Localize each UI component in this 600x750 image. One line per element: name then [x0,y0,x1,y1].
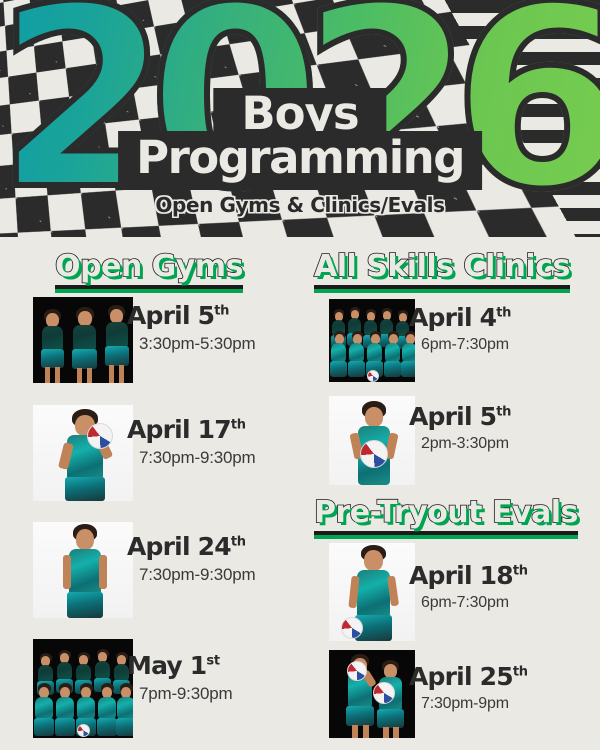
entry-text: April 5th 3:30pm-5:30pm [127,303,255,354]
entry-text: April 17th 7:30pm-9:30pm [127,417,255,468]
list-item: April 18th 6pm-7:30pm [327,541,597,643]
entry-time: 2pm-3:30pm [409,435,509,453]
entry-photo-full-team-two-rows [327,297,417,384]
list-item: April 24th 7:30pm-9:30pm [31,520,296,620]
entry-date: April 18th [409,563,528,589]
section-heading-all-skills-clinics: All Skills Clinics [314,249,570,289]
entry-time: 7:30pm-9:30pm [127,448,255,468]
entry-text: April 5th 2pm-3:30pm [409,404,511,453]
section-heading-open-gyms: Open Gyms [55,249,243,289]
list-item: April 25th 7:30pm-9pm [327,648,597,740]
entry-date: April 5th [127,303,229,329]
entry-photo-player-7-standing [31,520,135,620]
column-open-gyms: Open Gyms [0,237,300,750]
entry-photo-team-three-players [31,295,135,385]
entry-date: April 4th [409,305,511,331]
entry-time: 6pm-7:30pm [409,594,509,612]
poster-header: 2026 2026 Boys Programming Open Gyms & C… [0,0,600,237]
entry-text: April 25th 7:30pm-9pm [409,664,528,713]
entry-text: April 4th 6pm-7:30pm [409,305,511,354]
entry-time: 7pm-9:30pm [127,684,232,704]
section-heading-pre-tryout-evals: Pre-Tryout Evals [314,495,578,535]
entry-text: April 24th 7:30pm-9:30pm [127,534,255,585]
entry-date: May 1st [127,653,220,679]
list-item: April 4th 6pm-7:30pm [327,297,597,384]
list-item: April 5th 2pm-3:30pm [327,394,597,487]
entry-text: May 1st 7pm-9:30pm [127,653,232,704]
entry-time: 7:30pm-9pm [409,695,509,713]
entry-date: April 24th [127,534,246,560]
entry-date: April 17th [127,417,246,443]
entry-time: 7:30pm-9:30pm [127,565,255,585]
header-subtitle: Open Gyms & Clinics/Evals [155,193,444,217]
entry-photo-player-7-with-ball [327,541,417,643]
list-item: April 5th 3:30pm-5:30pm [31,295,296,385]
entry-time: 6pm-7:30pm [409,336,509,354]
column-clinics-evals: All Skills Clinics [300,237,600,750]
entry-date: April 5th [409,404,511,430]
entry-photo-two-players-with-balls [327,648,417,740]
list-item: May 1st 7pm-9:30pm [31,637,296,740]
title-line-2: Programming [118,131,482,190]
poster-body: Open Gyms [0,237,600,750]
entry-text: April 18th 6pm-7:30pm [409,563,528,612]
entry-photo-player-holding-ball [327,394,417,487]
entry-photo-player-56-pointing [31,403,135,503]
entry-photo-full-team-group [31,637,135,740]
entry-time: 3:30pm-5:30pm [127,334,255,354]
entry-date: April 25th [409,664,528,690]
list-item: April 17th 7:30pm-9:30pm [31,403,296,503]
